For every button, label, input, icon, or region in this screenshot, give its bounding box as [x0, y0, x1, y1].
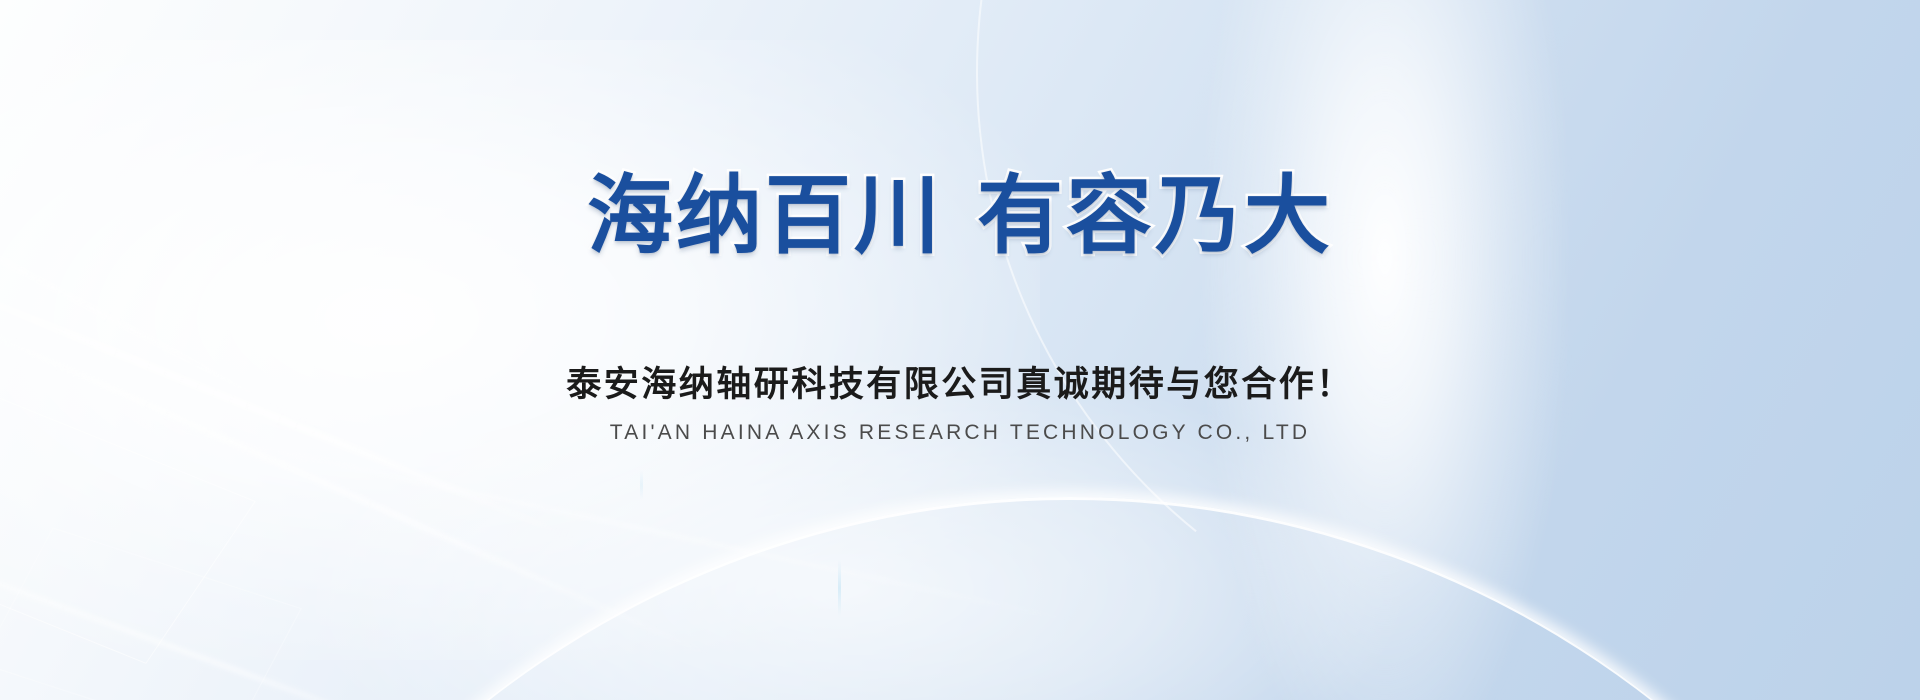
banner-headline: 海纳百川有容乃大 — [587, 168, 1333, 264]
headline-phrase-one: 海纳百川 — [587, 168, 943, 264]
banner-subtitle-chinese: 泰安海纳轴研科技有限公司真诚期待与您合作！ — [566, 356, 1354, 407]
banner-content: 海纳百川有容乃大 泰安海纳轴研科技有限公司真诚期待与您合作！ TAI'AN HA… — [0, 0, 1920, 700]
headline-phrase-two: 有容乃大 — [977, 168, 1333, 264]
banner-subtitle-english: TAI'AN HAINA AXIS RESEARCH TECHNOLOGY CO… — [610, 421, 1310, 445]
hero-banner: 海纳百川有容乃大 泰安海纳轴研科技有限公司真诚期待与您合作！ TAI'AN HA… — [0, 0, 1920, 700]
